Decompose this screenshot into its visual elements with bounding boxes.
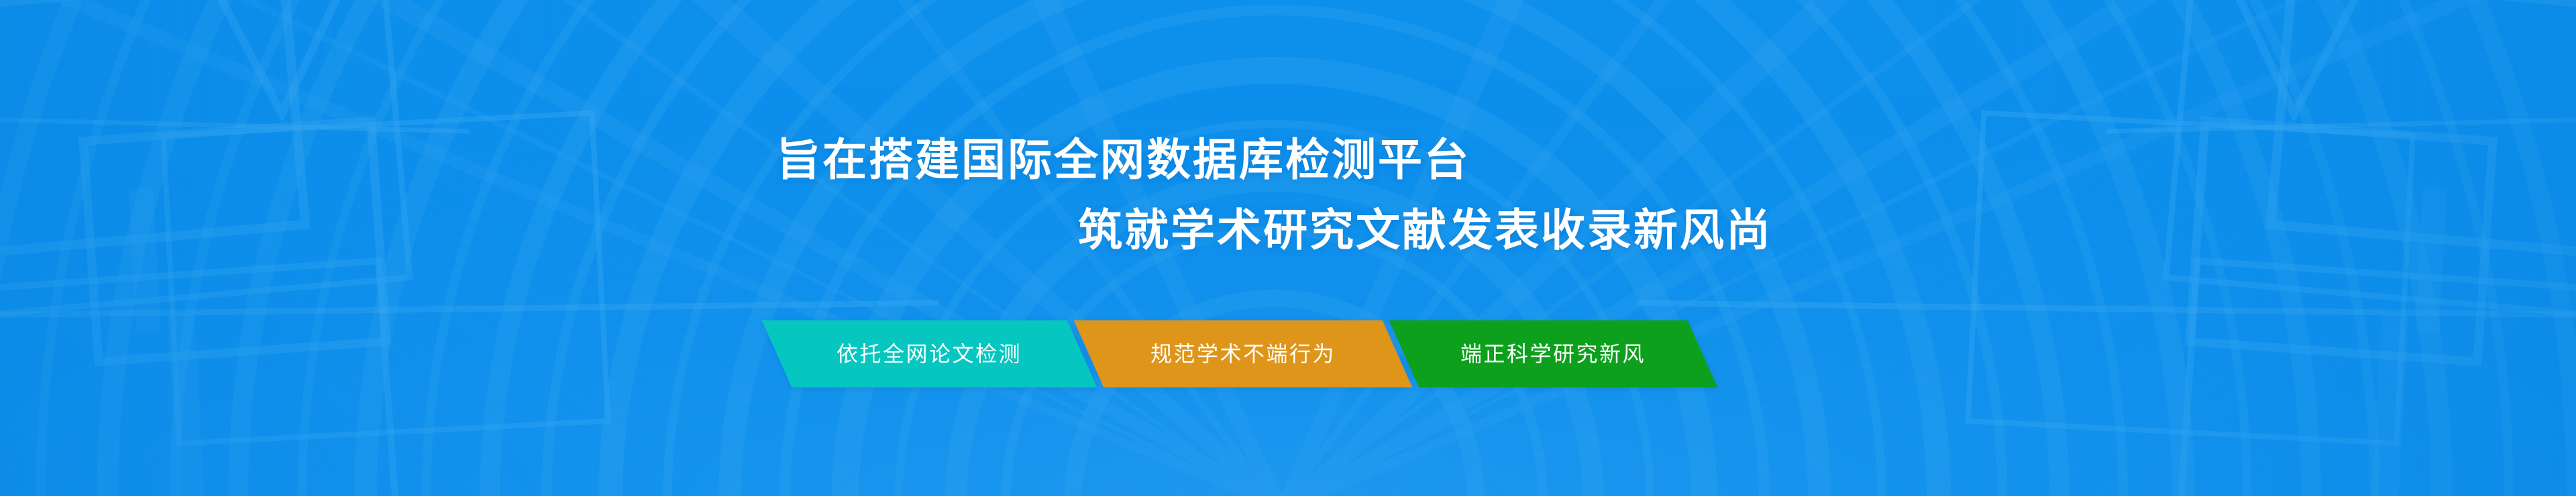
- feature-tag-detection[interactable]: 依托全网论文检测: [762, 320, 1097, 387]
- feature-tag-detection-label: 依托全网论文检测: [837, 343, 1022, 365]
- feature-tag-band: 依托全网论文检测 规范学术不端行为 端正科学研究新风: [777, 320, 1703, 387]
- feature-tag-misconduct[interactable]: 规范学术不端行为: [1074, 320, 1413, 387]
- headline-secondary: 筑就学术研究文献发表收录新风尚: [1078, 208, 1772, 252]
- feature-tag-integrity[interactable]: 端正科学研究新风: [1389, 320, 1718, 387]
- feature-tag-misconduct-label: 规范学术不端行为: [1150, 343, 1336, 365]
- headline-primary: 旨在搭建国际全网数据库检测平台: [776, 137, 1470, 182]
- feature-tag-integrity-label: 端正科学研究新风: [1460, 343, 1646, 365]
- promotional-banner: 旨在搭建国际全网数据库检测平台 筑就学术研究文献发表收录新风尚 依托全网论文检测…: [0, 0, 2576, 496]
